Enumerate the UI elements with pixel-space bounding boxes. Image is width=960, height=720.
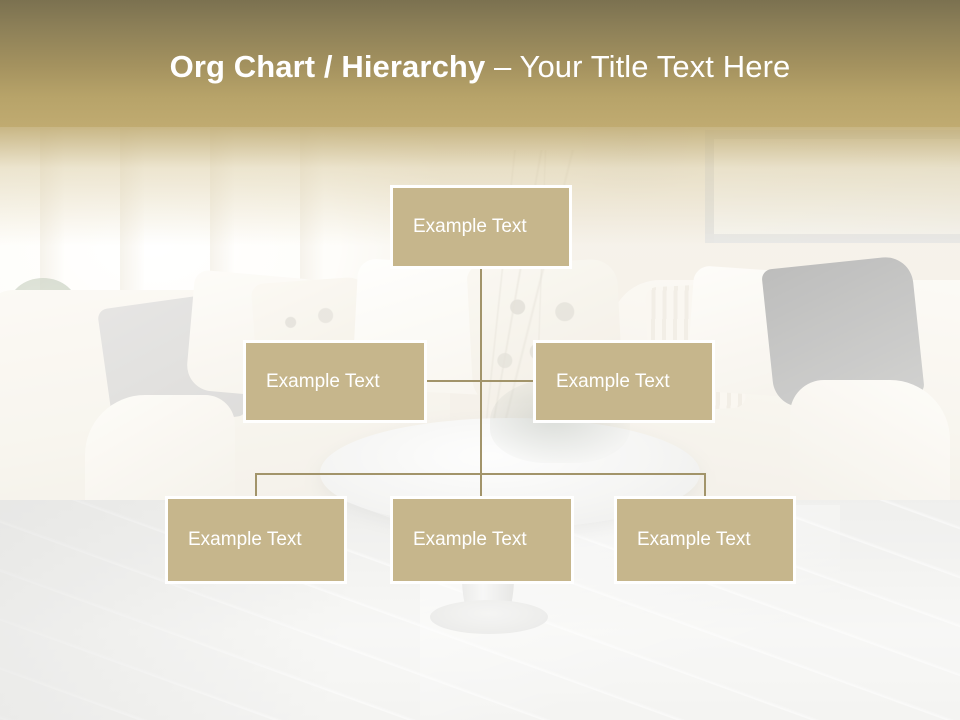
org-node-n1[interactable]: Example Text	[390, 185, 572, 269]
connector-vertical	[480, 269, 482, 498]
connector-vertical	[704, 473, 706, 497]
connector-horizontal	[427, 380, 481, 382]
connector-horizontal	[255, 473, 706, 475]
org-node-n6[interactable]: Example Text	[614, 496, 796, 584]
org-node-n5[interactable]: Example Text	[390, 496, 574, 584]
org-chart: Example TextExample TextExample TextExam…	[0, 0, 960, 720]
org-node-label: Example Text	[393, 529, 527, 551]
org-node-label: Example Text	[617, 529, 751, 551]
org-node-n3[interactable]: Example Text	[533, 340, 715, 423]
org-node-label: Example Text	[168, 529, 302, 551]
org-node-label: Example Text	[246, 371, 380, 393]
org-node-label: Example Text	[536, 371, 670, 393]
connector-vertical	[255, 473, 257, 497]
slide: Org Chart / Hierarchy – Your Title Text …	[0, 0, 960, 720]
org-node-n4[interactable]: Example Text	[165, 496, 347, 584]
connector-horizontal	[480, 380, 534, 382]
org-node-label: Example Text	[393, 216, 527, 238]
org-node-n2[interactable]: Example Text	[243, 340, 427, 423]
